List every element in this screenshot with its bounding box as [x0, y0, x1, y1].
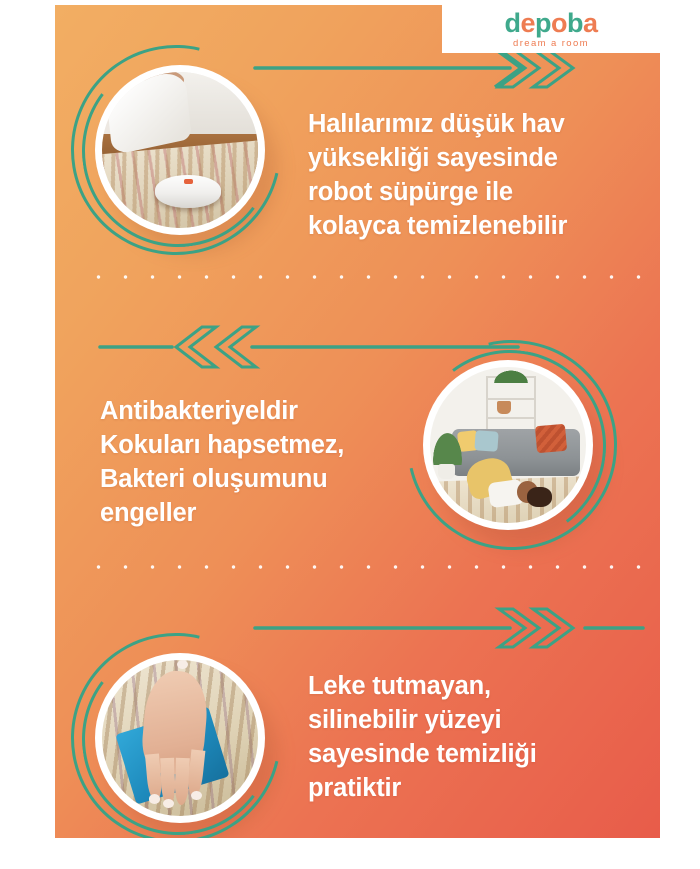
- headline-2-line-3: Bakteri oluşumunu: [100, 463, 344, 497]
- scene-robot-vacuum: [102, 72, 258, 228]
- headline-section-2: Antibakteriyeldir Kokuları hapsetmez, Ba…: [100, 395, 344, 531]
- section-divider-1: [85, 275, 652, 279]
- logo-letter-o: o: [551, 8, 567, 38]
- arrow-right-section-3: [255, 605, 645, 651]
- headline-2-line-4: engeller: [100, 497, 344, 531]
- headline-section-3: Leke tutmayan, silinebilir yüzeyi sayesi…: [308, 670, 537, 806]
- brand-tagline: dream a room: [513, 38, 589, 49]
- logo-letter-b: b: [567, 8, 583, 38]
- headline-3-line-4: pratiktir: [308, 772, 537, 806]
- robot-vacuum-photo: [102, 72, 258, 228]
- headline-section-1: Halılarımız düşük hav yüksekliği sayesin…: [308, 108, 567, 244]
- headline-2-line-1: Antibakteriyeldir: [100, 395, 344, 429]
- logo-letter-a: a: [583, 8, 598, 38]
- brand-logo[interactable]: depoba dream a room: [442, 5, 660, 53]
- brand-logo-wordmark: depoba: [504, 10, 597, 37]
- headline-1-line-2: yüksekliği sayesinde: [308, 142, 567, 176]
- infographic-poster: depoba dream a room: [55, 5, 660, 838]
- headline-1-line-1: Halılarımız düşük hav: [308, 108, 567, 142]
- logo-letter-e: e: [520, 8, 535, 38]
- hand-wiping-rug-photo: [102, 660, 258, 816]
- headline-3-line-3: sayesinde temizliği: [308, 738, 537, 772]
- headline-3-line-1: Leke tutmayan,: [308, 670, 537, 704]
- headline-3-line-2: silinebilir yüzeyi: [308, 704, 537, 738]
- photo-ring: [95, 653, 265, 823]
- scene-hand-cloth: [102, 660, 258, 816]
- logo-letter-d: d: [504, 8, 520, 38]
- section-divider-2: [85, 565, 652, 569]
- headline-1-line-3: robot süpürge ile: [308, 176, 567, 210]
- logo-letter-p: p: [535, 8, 551, 38]
- scene-living-room: [430, 367, 586, 523]
- photo-ring: [423, 360, 593, 530]
- headline-2-line-2: Kokuları hapsetmez,: [100, 429, 344, 463]
- living-room-photo: [430, 367, 586, 523]
- photo-ring: [95, 65, 265, 235]
- headline-1-line-4: kolayca temizlenebilir: [308, 210, 567, 244]
